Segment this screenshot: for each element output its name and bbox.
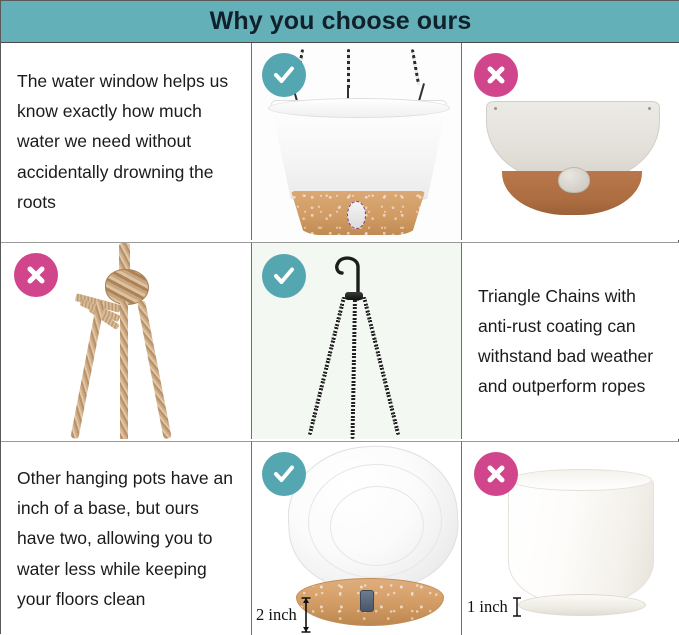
row-1-bad-image-cell xyxy=(462,43,679,240)
metal-chain-right xyxy=(362,297,400,436)
chain-gather-ring xyxy=(345,292,363,300)
check-badge xyxy=(262,53,306,97)
cross-icon xyxy=(483,461,509,487)
competitor-knob xyxy=(558,167,590,193)
row-1-text-cell: The water window helps us know exactly h… xyxy=(1,43,252,240)
row-2-good-image-cell xyxy=(252,242,462,439)
dimension-label-2-inch: 2 inch xyxy=(256,605,297,625)
row-2-bad-image-cell xyxy=(1,242,252,439)
competitor-shallow-saucer xyxy=(518,594,646,616)
cross-icon xyxy=(23,262,49,288)
comparison-grid: The water window helps us know exactly h… xyxy=(1,43,679,635)
row-1-description: The water window helps us know exactly h… xyxy=(17,66,237,216)
cross-icon xyxy=(483,62,509,88)
cross-badge xyxy=(14,253,58,297)
saucer-drain-plug xyxy=(360,590,374,612)
check-icon xyxy=(271,461,297,487)
water-level-window xyxy=(347,201,366,229)
row-3-description: Other hanging pots have an inch of a bas… xyxy=(17,463,237,613)
competitor-pot-rim xyxy=(510,469,652,491)
check-badge xyxy=(262,254,306,298)
row-2-text-cell: Triangle Chains with anti-rust coating c… xyxy=(462,242,679,439)
page-title: Why you choose ours xyxy=(210,7,472,36)
dimension-annotation-good: 2 inch xyxy=(256,594,312,635)
dimension-annotation-bad: 1 inch xyxy=(467,594,523,620)
competitor-white-pot xyxy=(508,476,654,606)
cross-badge xyxy=(474,452,518,496)
row-3-text-cell: Other hanging pots have an inch of a bas… xyxy=(1,441,252,635)
dimension-arrow-icon xyxy=(300,594,312,635)
check-icon xyxy=(271,263,297,289)
chain-right xyxy=(411,49,420,85)
check-badge xyxy=(262,452,306,496)
header-bar: Why you choose ours xyxy=(1,1,679,43)
row-1-good-image-cell xyxy=(252,43,462,240)
cross-badge xyxy=(474,53,518,97)
dimension-arrow-icon xyxy=(511,594,523,620)
rope-leg-right xyxy=(137,300,172,439)
dimension-label-1-inch: 1 inch xyxy=(467,597,508,617)
row-2-description: Triangle Chains with anti-rust coating c… xyxy=(478,281,666,401)
row-3-bad-image-cell: 1 inch xyxy=(462,441,679,635)
infographic-root: Why you choose ours The water window hel… xyxy=(0,0,679,634)
row-3-good-image-cell: 2 inch xyxy=(252,441,462,635)
metal-chain-center xyxy=(351,297,357,439)
competitor-pinhole-right xyxy=(648,107,651,110)
pot-rim xyxy=(268,98,450,118)
rope-leg-center xyxy=(120,301,128,439)
metal-chain-left xyxy=(308,297,346,436)
competitor-pinhole-left xyxy=(494,107,497,110)
check-icon xyxy=(271,62,297,88)
chain-center xyxy=(347,49,350,89)
rope-leg-left xyxy=(70,300,105,439)
